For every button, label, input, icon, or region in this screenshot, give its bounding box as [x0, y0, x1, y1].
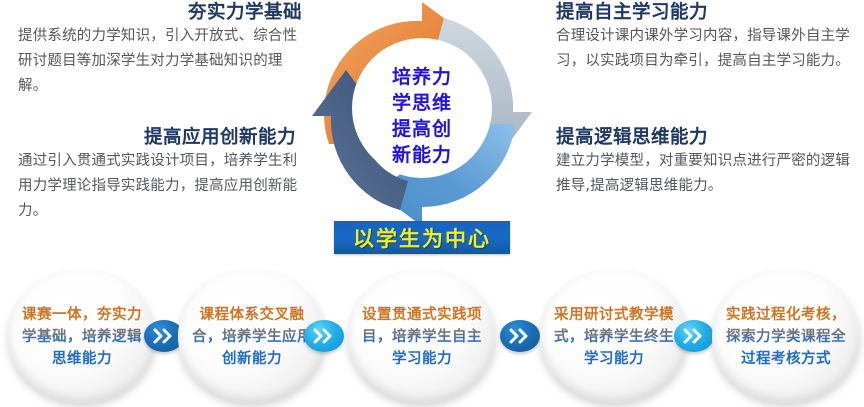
quadrant-top-right-title: 提高自主学习能力	[556, 2, 858, 24]
quadrant-bottom-right-body: 建立力学模型，对重要知识点进行严密的逻辑推导,提高逻辑思维能力。	[556, 149, 858, 199]
cycle-diagram	[296, 0, 548, 234]
process-node-4[interactable]: 采用研讨式教学模式，培养学生终生学习能力	[540, 270, 688, 403]
process-node-5[interactable]: 实践过程化考核，探索力学类课程全过程考核方式	[712, 270, 860, 403]
chevron-2-icon	[304, 320, 344, 352]
cycle-center-disc	[352, 38, 492, 178]
chevron-3-icon	[500, 320, 540, 352]
diagram-canvas: 夯实力学基础 提供系统的力学知识，引入开放式、综合性研讨题目等加深学生对力学基础…	[0, 0, 864, 407]
banner-label: 以学生为中心	[353, 223, 491, 253]
quadrant-bottom-right-title: 提高逻辑思维能力	[556, 127, 858, 149]
quadrant-bottom-left-title: 提高应用创新能力	[8, 127, 308, 149]
quadrant-bottom-left: 提高应用创新能力 通过引入贯通式实践设计项目，培养学生利用力学理论指导实践能力，…	[8, 127, 308, 224]
process-node-1-label: 课赛一体，夯实力学基础，培养逻辑思维能力	[16, 304, 148, 370]
process-node-3-label: 设置贯通式实践项目，培养学生自主学习能力	[356, 304, 488, 370]
process-node-3[interactable]: 设置贯通式实践项目，培养学生自主学习能力	[348, 270, 496, 403]
process-chain: 课赛一体，夯实力学基础，培养逻辑思维能力 课程体系交叉融合，培养学生应用创新能力…	[0, 266, 864, 407]
quadrant-top-left-title: 夯实力学基础	[8, 2, 308, 24]
quadrant-top-left: 夯实力学基础 提供系统的力学知识，引入开放式、综合性研讨题目等加深学生对力学基础…	[8, 2, 308, 99]
quadrant-top-right: 提高自主学习能力 合理设计课内课外学习内容，指导课外自主学习，以实践项目为牵引，…	[556, 2, 858, 74]
quadrant-top-left-body: 提供系统的力学知识，引入开放式、综合性研讨题目等加深学生对力学基础知识的理解。	[8, 24, 308, 99]
chevron-4-icon	[674, 320, 714, 352]
process-node-5-label: 实践过程化考核，探索力学类课程全过程考核方式	[720, 304, 852, 370]
student-centered-banner: 以学生为中心	[334, 221, 510, 254]
process-node-4-label: 采用研讨式教学模式，培养学生终生学习能力	[548, 304, 680, 370]
process-node-2-label: 课程体系交叉融合，培养学生应用创新能力	[186, 304, 318, 370]
process-node-1[interactable]: 课赛一体，夯实力学基础，培养逻辑思维能力	[8, 270, 156, 403]
quadrant-bottom-left-body: 通过引入贯通式实践设计项目，培养学生利用力学理论指导实践能力，提高应用创新能力。	[8, 149, 308, 224]
quadrant-top-right-body: 合理设计课内课外学习内容，指导课外自主学习，以实践项目为牵引，提高自主学习能力。	[556, 24, 858, 74]
quadrant-bottom-right: 提高逻辑思维能力 建立力学模型，对重要知识点进行严密的逻辑推导,提高逻辑思维能力…	[556, 127, 858, 199]
